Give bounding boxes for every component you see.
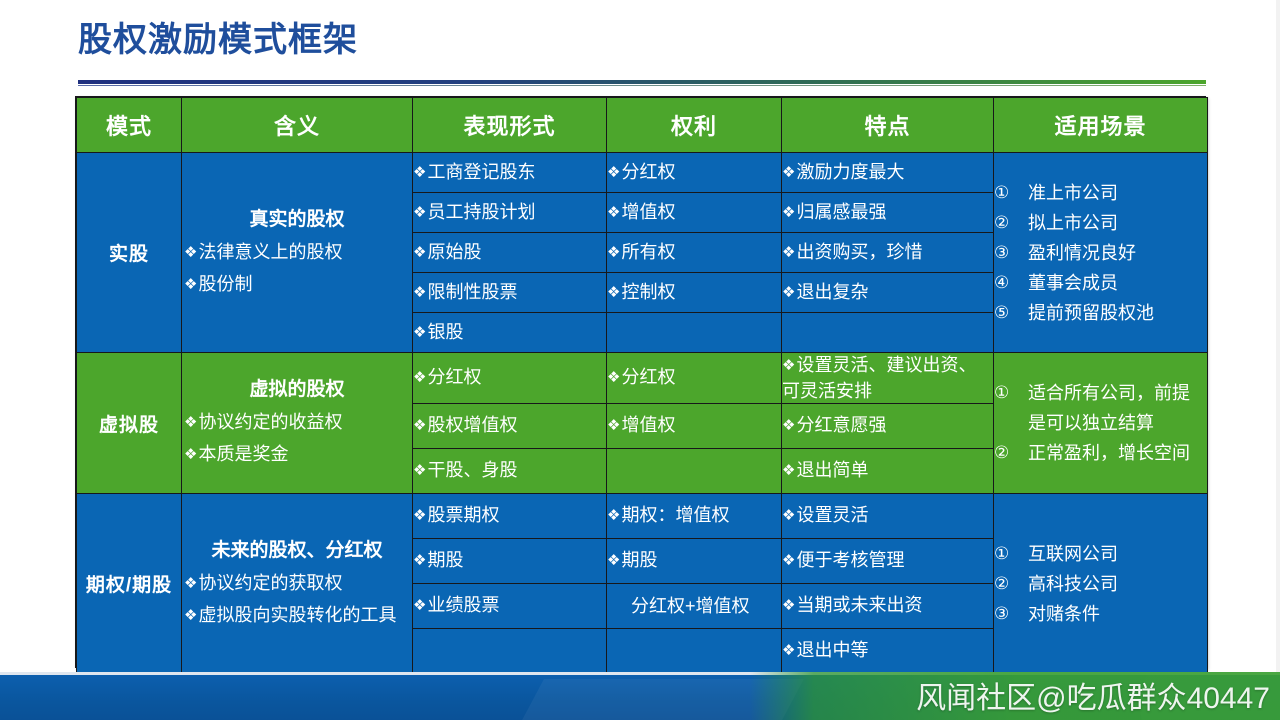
right-item-text: 增值权 (621, 415, 675, 435)
cell-right: ❖控制权 (607, 273, 782, 313)
feature-item: ❖激励力度最大 (782, 162, 904, 182)
form-item-text: 业绩股票 (427, 595, 499, 615)
diamond-bullet-icon: ❖ (782, 642, 795, 659)
meaning-item: ❖股份制 (182, 269, 412, 301)
diamond-bullet-icon: ❖ (413, 552, 426, 569)
right-item: ❖所有权 (607, 242, 675, 262)
meaning-item-text: 本质是奖金 (198, 444, 288, 464)
scenario-text: 对赌条件 (1028, 599, 1207, 629)
cell-scenarios: ①互联网公司②高科技公司③对赌条件 (994, 494, 1208, 674)
scenario-item: ③盈利情况良好 (994, 238, 1207, 268)
table-header: 模式 含义 表现形式 权利 特点 适用场景 (77, 98, 1208, 153)
cell-right: ❖所有权 (607, 233, 782, 273)
scenario-number: ④ (994, 268, 1028, 298)
title-divider-thin (78, 85, 1206, 86)
diamond-bullet-icon: ❖ (184, 414, 197, 431)
scenario-item: ④董事会成员 (994, 268, 1207, 298)
cell-right: ❖分红权 (607, 153, 782, 193)
right-item: ❖增值权 (607, 202, 675, 222)
diamond-bullet-icon: ❖ (782, 244, 795, 261)
diamond-bullet-icon: ❖ (184, 446, 197, 463)
meaning-item-text: 协议约定的收益权 (198, 412, 342, 432)
scenario-item: ⑤提前预留股权池 (994, 298, 1207, 328)
form-item: ❖股权增值权 (413, 415, 517, 435)
diamond-bullet-icon: ❖ (413, 369, 426, 386)
diamond-bullet-icon: ❖ (607, 417, 620, 434)
right-item: ❖期股 (607, 550, 657, 570)
matrix-table: 模式 含义 表现形式 权利 特点 适用场景 实股真实的股权❖法律意义上的股权❖股… (76, 97, 1208, 674)
feature-item-text: 激励力度最大 (796, 162, 904, 182)
cell-meaning: 真实的股权❖法律意义上的股权❖股份制 (182, 153, 413, 353)
cell-mode: 虚拟股 (77, 353, 182, 494)
meaning-item: ❖虚拟股向实股转化的工具 (182, 600, 412, 632)
cell-right: ❖期股 (607, 539, 782, 584)
form-item-text: 分红权 (427, 367, 481, 387)
cell-right (607, 629, 782, 674)
right-item: ❖分红权 (607, 367, 675, 387)
right-item-text: 分红权 (621, 162, 675, 182)
cell-form: ❖期股 (413, 539, 607, 584)
feature-item-text: 设置灵活 (796, 505, 868, 525)
diamond-bullet-icon: ❖ (184, 276, 197, 293)
scenario-text: 提前预留股权池 (1028, 298, 1207, 328)
mode-label: 期权/期股 (86, 575, 172, 596)
cell-form: ❖干股、身股 (413, 449, 607, 494)
form-item: ❖工商登记股东 (413, 162, 535, 182)
form-item: ❖银股 (413, 322, 463, 342)
form-item: ❖员工持股计划 (413, 202, 535, 222)
feature-item: ❖退出简单 (782, 460, 868, 480)
meaning-item: ❖协议约定的获取权 (182, 568, 412, 600)
cell-right: 分红权+增值权 (607, 584, 782, 629)
diamond-bullet-icon: ❖ (184, 575, 197, 592)
scenario-text: 适合所有公司，前提是可以独立结算 (1028, 378, 1207, 438)
cell-scenarios: ①适合所有公司，前提是可以独立结算②正常盈利，增长空间 (994, 353, 1208, 494)
meaning-heading: 真实的股权 (182, 205, 412, 235)
right-item: ❖控制权 (607, 282, 675, 302)
cell-right: ❖增值权 (607, 193, 782, 233)
diamond-bullet-icon: ❖ (782, 284, 795, 301)
right-item-text: 期股 (621, 550, 657, 570)
feature-item: ❖设置灵活、建议出资、可灵活安排 (782, 355, 976, 401)
meaning-item-text: 股份制 (198, 274, 252, 294)
cell-feature: ❖设置灵活、建议出资、可灵活安排 (782, 353, 994, 404)
mode-label: 实股 (109, 244, 149, 265)
cell-scenarios: ①准上市公司②拟上市公司③盈利情况良好④董事会成员⑤提前预留股权池 (994, 153, 1208, 353)
diamond-bullet-icon: ❖ (782, 597, 795, 614)
form-item-text: 股权增值权 (427, 415, 517, 435)
form-item: ❖原始股 (413, 242, 481, 262)
table-body: 实股真实的股权❖法律意义上的股权❖股份制❖工商登记股东❖分红权❖激励力度最大①准… (77, 153, 1208, 674)
meaning-item-text: 虚拟股向实股转化的工具 (198, 605, 396, 625)
meaning-item-text: 法律意义上的股权 (198, 242, 342, 262)
diamond-bullet-icon: ❖ (413, 507, 426, 524)
form-item: ❖业绩股票 (413, 595, 499, 615)
slide-canvas: 股权激励模式框架 模式 含义 表现形式 权利 特点 适用场景 实股真实的股权❖法… (0, 0, 1280, 720)
scenario-number: ② (994, 438, 1028, 468)
column-header-mode: 模式 (77, 98, 182, 153)
scenario-number: ② (994, 208, 1028, 238)
meaning-item: ❖协议约定的收益权 (182, 407, 412, 439)
column-header-forms: 表现形式 (413, 98, 607, 153)
diamond-bullet-icon: ❖ (607, 507, 620, 524)
column-header-meaning: 含义 (182, 98, 413, 153)
cell-feature: ❖激励力度最大 (782, 153, 994, 193)
cell-feature: ❖当期或未来出资 (782, 584, 994, 629)
feature-item-text: 归属感最强 (796, 202, 886, 222)
page-title: 股权激励模式框架 (78, 18, 358, 62)
diamond-bullet-icon: ❖ (607, 244, 620, 261)
cell-mode: 期权/期股 (77, 494, 182, 674)
diamond-bullet-icon: ❖ (184, 607, 197, 624)
diamond-bullet-icon: ❖ (413, 417, 426, 434)
feature-item: ❖出资购买，珍惜 (782, 242, 922, 262)
cell-right (607, 313, 782, 353)
scenario-item: ③对赌条件 (994, 599, 1207, 629)
right-item: ❖期权：增值权 (607, 505, 729, 525)
scenario-item: ②拟上市公司 (994, 208, 1207, 238)
right-item-text: 分红权+增值权 (631, 596, 750, 616)
cell-right: ❖期权：增值权 (607, 494, 782, 539)
form-item: ❖股票期权 (413, 505, 499, 525)
diamond-bullet-icon: ❖ (413, 164, 426, 181)
cell-form: ❖股票期权 (413, 494, 607, 539)
cell-form: ❖工商登记股东 (413, 153, 607, 193)
diamond-bullet-icon: ❖ (607, 284, 620, 301)
cell-right: ❖增值权 (607, 404, 782, 449)
cell-right: ❖分红权 (607, 353, 782, 404)
table-row: 实股真实的股权❖法律意义上的股权❖股份制❖工商登记股东❖分红权❖激励力度最大①准… (77, 153, 1208, 193)
cell-form: ❖员工持股计划 (413, 193, 607, 233)
right-item-text: 增值权 (621, 202, 675, 222)
feature-item-text: 设置灵活、建议出资、可灵活安排 (782, 355, 976, 401)
meaning-item: ❖法律意义上的股权 (182, 237, 412, 269)
form-item-text: 期股 (427, 550, 463, 570)
right-item: ❖增值权 (607, 415, 675, 435)
cell-feature: ❖归属感最强 (782, 193, 994, 233)
cell-form (413, 629, 607, 674)
diamond-bullet-icon: ❖ (782, 552, 795, 569)
cell-form: ❖分红权 (413, 353, 607, 404)
feature-item-text: 分红意愿强 (796, 415, 886, 435)
diamond-bullet-icon: ❖ (782, 417, 795, 434)
diamond-bullet-icon: ❖ (607, 204, 620, 221)
feature-item: ❖退出中等 (782, 640, 868, 660)
diamond-bullet-icon: ❖ (782, 507, 795, 524)
right-item: 分红权+增值权 (631, 596, 750, 616)
diamond-bullet-icon: ❖ (413, 597, 426, 614)
scenario-number: ① (994, 539, 1028, 569)
meaning-item: ❖本质是奖金 (182, 439, 412, 471)
header-row: 模式 含义 表现形式 权利 特点 适用场景 (77, 98, 1208, 153)
scenario-number: ⑤ (994, 298, 1028, 328)
column-header-features: 特点 (782, 98, 994, 153)
scenario-text: 董事会成员 (1028, 268, 1207, 298)
cell-feature: ❖出资购买，珍惜 (782, 233, 994, 273)
cell-meaning: 虚拟的股权❖协议约定的收益权❖本质是奖金 (182, 353, 413, 494)
feature-item-text: 出资购买，珍惜 (796, 242, 922, 262)
cell-form: ❖限制性股票 (413, 273, 607, 313)
form-item-text: 工商登记股东 (427, 162, 535, 182)
cell-feature: ❖便于考核管理 (782, 539, 994, 584)
form-item-text: 限制性股票 (427, 282, 517, 302)
form-item: ❖限制性股票 (413, 282, 517, 302)
cell-feature (782, 313, 994, 353)
scenario-text: 盈利情况良好 (1028, 238, 1207, 268)
table-row: 期权/期股未来的股权、分红权❖协议约定的获取权❖虚拟股向实股转化的工具❖股票期权… (77, 494, 1208, 539)
cell-form: ❖股权增值权 (413, 404, 607, 449)
diamond-bullet-icon: ❖ (607, 552, 620, 569)
cell-feature: ❖退出中等 (782, 629, 994, 674)
feature-item-text: 退出复杂 (796, 282, 868, 302)
diamond-bullet-icon: ❖ (413, 324, 426, 341)
form-item: ❖期股 (413, 550, 463, 570)
meaning-heading: 未来的股权、分红权 (182, 536, 412, 566)
equity-incentive-matrix: 模式 含义 表现形式 权利 特点 适用场景 实股真实的股权❖法律意义上的股权❖股… (75, 96, 1206, 668)
diamond-bullet-icon: ❖ (782, 462, 795, 479)
diamond-bullet-icon: ❖ (782, 357, 795, 374)
right-item-text: 所有权 (621, 242, 675, 262)
diamond-bullet-icon: ❖ (782, 204, 795, 221)
mode-label: 虚拟股 (99, 415, 159, 436)
feature-item: ❖归属感最强 (782, 202, 886, 222)
cell-mode: 实股 (77, 153, 182, 353)
diamond-bullet-icon: ❖ (184, 244, 197, 261)
feature-item-text: 退出中等 (796, 640, 868, 660)
scenario-number: ① (994, 378, 1028, 408)
scenario-item: ①互联网公司 (994, 539, 1207, 569)
cell-meaning: 未来的股权、分红权❖协议约定的获取权❖虚拟股向实股转化的工具 (182, 494, 413, 674)
diamond-bullet-icon: ❖ (607, 369, 620, 386)
scenario-text: 高科技公司 (1028, 569, 1207, 599)
form-item: ❖干股、身股 (413, 460, 517, 480)
scenario-item: ②正常盈利，增长空间 (994, 438, 1207, 468)
right-item-text: 期权：增值权 (621, 505, 729, 525)
table-row: 虚拟股虚拟的股权❖协议约定的收益权❖本质是奖金❖分红权❖分红权❖设置灵活、建议出… (77, 353, 1208, 404)
scenario-item: ①准上市公司 (994, 178, 1207, 208)
scenario-text: 拟上市公司 (1028, 208, 1207, 238)
title-divider (78, 80, 1206, 84)
cell-form: ❖原始股 (413, 233, 607, 273)
column-header-rights: 权利 (607, 98, 782, 153)
cell-right (607, 449, 782, 494)
feature-item-text: 便于考核管理 (796, 550, 904, 570)
scenario-item: ①适合所有公司，前提是可以独立结算 (994, 378, 1207, 438)
form-item: ❖分红权 (413, 367, 481, 387)
right-item: ❖分红权 (607, 162, 675, 182)
right-item-text: 控制权 (621, 282, 675, 302)
right-item-text: 分红权 (621, 367, 675, 387)
scenario-text: 正常盈利，增长空间 (1028, 438, 1207, 468)
scenario-number: ① (994, 178, 1028, 208)
scenario-number: ② (994, 569, 1028, 599)
meaning-heading: 虚拟的股权 (182, 375, 412, 405)
form-item-text: 股票期权 (427, 505, 499, 525)
feature-item: ❖分红意愿强 (782, 415, 886, 435)
feature-item: ❖当期或未来出资 (782, 595, 922, 615)
diamond-bullet-icon: ❖ (607, 164, 620, 181)
feature-item-text: 退出简单 (796, 460, 868, 480)
cell-form: ❖银股 (413, 313, 607, 353)
scenario-item: ②高科技公司 (994, 569, 1207, 599)
diamond-bullet-icon: ❖ (413, 244, 426, 261)
diamond-bullet-icon: ❖ (413, 204, 426, 221)
cell-feature: ❖分红意愿强 (782, 404, 994, 449)
feature-item-text: 当期或未来出资 (796, 595, 922, 615)
scenario-number: ③ (994, 599, 1028, 629)
cell-feature: ❖退出复杂 (782, 273, 994, 313)
column-header-scenarios: 适用场景 (994, 98, 1208, 153)
scenario-text: 互联网公司 (1028, 539, 1207, 569)
feature-item: ❖退出复杂 (782, 282, 868, 302)
form-item-text: 原始股 (427, 242, 481, 262)
form-item-text: 员工持股计划 (427, 202, 535, 222)
scenario-text: 准上市公司 (1028, 178, 1207, 208)
diamond-bullet-icon: ❖ (782, 164, 795, 181)
cell-feature: ❖设置灵活 (782, 494, 994, 539)
cell-feature: ❖退出简单 (782, 449, 994, 494)
right-edge-margin (1276, 0, 1280, 672)
cell-form: ❖业绩股票 (413, 584, 607, 629)
diamond-bullet-icon: ❖ (413, 284, 426, 301)
feature-item: ❖设置灵活 (782, 505, 868, 525)
meaning-item-text: 协议约定的获取权 (198, 573, 342, 593)
watermark-text: 风闻社区@吃瓜群众40447 (916, 673, 1270, 717)
scenario-number: ③ (994, 238, 1028, 268)
form-item-text: 干股、身股 (427, 460, 517, 480)
feature-item: ❖便于考核管理 (782, 550, 904, 570)
diamond-bullet-icon: ❖ (413, 462, 426, 479)
form-item-text: 银股 (427, 322, 463, 342)
